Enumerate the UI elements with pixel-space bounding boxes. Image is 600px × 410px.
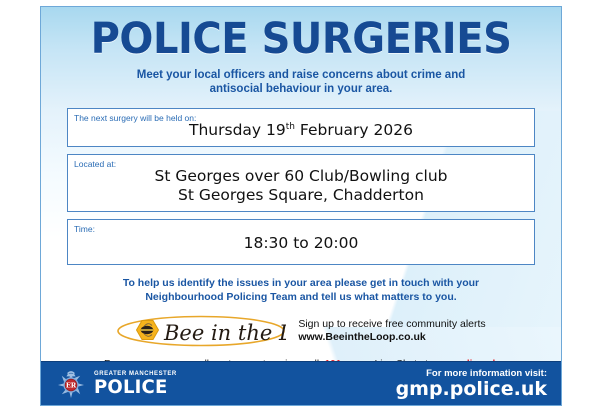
detail-box-time: Time: 18:30 to 20:00 bbox=[67, 219, 535, 265]
date-value: Thursday 19th February 2026 bbox=[74, 121, 528, 140]
footer-bar: ER GREATER MANCHESTER POLICE For more in… bbox=[41, 361, 561, 405]
date-value-suffix: February 2026 bbox=[295, 121, 413, 139]
community-message-line-2: Neighbourhood Policing Team and tell us … bbox=[145, 291, 456, 303]
detail-box-date: The next surgery will be held on: Thursd… bbox=[67, 108, 535, 147]
visit-label: For more information visit: bbox=[396, 368, 547, 379]
community-message: To help us identify the issues in your a… bbox=[81, 277, 521, 304]
poster-container: POLICE SURGERIES Meet your local officer… bbox=[40, 6, 562, 406]
bee-in-the-loop-copy: Sign up to receive free community alerts… bbox=[298, 318, 485, 344]
page-subtitle: Meet your local officers and raise conce… bbox=[75, 68, 527, 96]
page-title: POLICE SURGERIES bbox=[59, 16, 543, 62]
force-name-big: POLICE bbox=[94, 378, 173, 397]
footer-branding: ER GREATER MANCHESTER POLICE bbox=[55, 368, 177, 400]
svg-text:ER: ER bbox=[66, 381, 77, 389]
page-subtitle-line-1: Meet your local officers and raise conce… bbox=[137, 69, 466, 81]
svg-text:Bee in the Loop: Bee in the Loop bbox=[163, 321, 286, 345]
date-value-prefix: Thursday 19 bbox=[189, 121, 286, 139]
time-label: Time: bbox=[74, 224, 528, 234]
police-badge-icon: ER bbox=[55, 368, 87, 400]
bee-in-the-loop-logo[interactable]: Bee in the Loop Bee in the Loop bbox=[116, 314, 286, 348]
bee-url[interactable]: www.BeeintheLoop.co.uk bbox=[298, 331, 485, 344]
bee-in-the-loop-logo-icon: Bee in the Loop bbox=[116, 314, 286, 348]
location-value-line-2: St Georges Square, Chadderton bbox=[74, 186, 528, 205]
gmp-wordmark: GREATER MANCHESTER POLICE bbox=[94, 371, 177, 397]
location-value-line-1: St Georges over 60 Club/Bowling club bbox=[155, 167, 448, 185]
visit-url[interactable]: gmp.police.uk bbox=[396, 379, 547, 400]
date-value-ordinal: th bbox=[286, 122, 295, 132]
detail-box-location: Located at: St Georges over 60 Club/Bowl… bbox=[67, 154, 535, 212]
location-value: St Georges over 60 Club/Bowling club St … bbox=[74, 167, 528, 205]
footer-website: For more information visit: gmp.police.u… bbox=[396, 368, 547, 400]
bee-signup-line: Sign up to receive free community alerts bbox=[298, 318, 485, 331]
bee-in-the-loop-section: Bee in the Loop Bee in the Loop Sign up … bbox=[41, 314, 561, 348]
community-message-line-1: To help us identify the issues in your a… bbox=[123, 277, 479, 289]
details-boxes: The next surgery will be held on: Thursd… bbox=[67, 108, 535, 265]
page-subtitle-line-2: antisocial behaviour in your area. bbox=[210, 83, 393, 95]
time-value: 18:30 to 20:00 bbox=[74, 234, 528, 253]
